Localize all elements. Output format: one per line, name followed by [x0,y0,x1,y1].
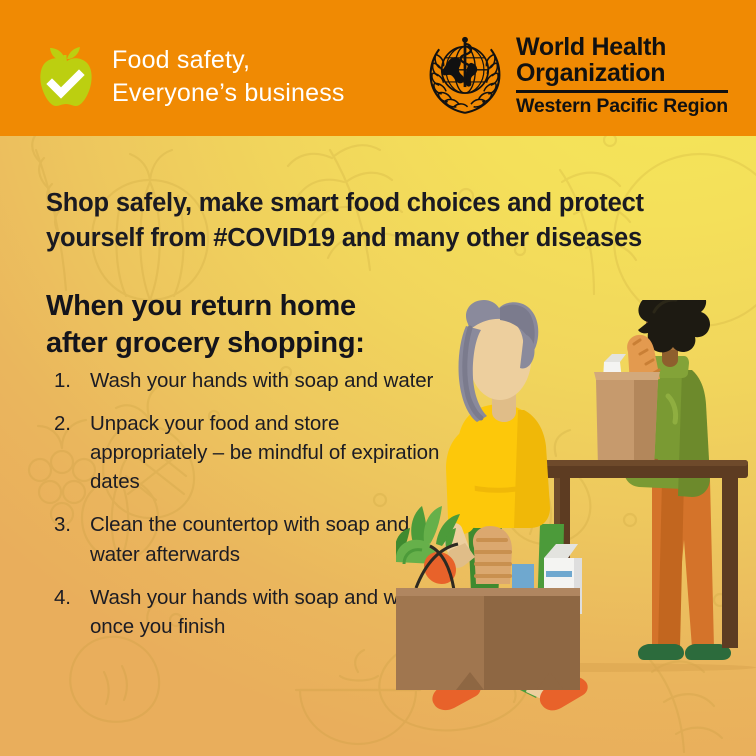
steps-list: 1. Wash your hands with soap and water 2… [46,366,448,655]
list-item: 4. Wash your hands with soap and water o… [46,583,448,641]
step-number: 3. [54,510,71,539]
step-number: 1. [54,366,71,395]
poster-canvas: Food safety, Everyone’s business [0,0,756,756]
headline: Shop safely, make smart food choices and… [46,186,686,256]
list-item: 2. Unpack your food and store appropriat… [46,409,448,496]
grocery-unpacking-illustration [396,300,756,720]
who-line-1: World Health [516,34,728,60]
step-text: Wash your hands with soap and water once… [90,586,433,638]
apple-check-icon [38,46,94,108]
campaign-title: Food safety, Everyone’s business [112,44,345,111]
who-divider [516,90,728,93]
campaign-brand-lockup: Food safety, Everyone’s business [38,44,345,111]
header-bar: Food safety, Everyone’s business [0,0,756,136]
who-emblem-icon [422,32,508,118]
step-text: Wash your hands with soap and water [90,369,433,392]
who-region-label: Western Pacific Region [516,96,728,116]
list-item: 3. Clean the countertop with soap and wa… [46,510,448,568]
paper-grocery-bag [594,335,660,468]
who-wordmark: World Health Organization Western Pacifi… [516,30,728,116]
step-text: Clean the countertop with soap and water… [90,513,409,565]
who-logo: World Health Organization Western Pacifi… [422,30,728,118]
who-line-2: Organization [516,60,728,86]
step-number: 4. [54,583,71,612]
step-number: 2. [54,409,71,438]
step-text: Unpack your food and store appropriately… [90,412,439,493]
list-item: 1. Wash your hands with soap and water [46,366,448,395]
